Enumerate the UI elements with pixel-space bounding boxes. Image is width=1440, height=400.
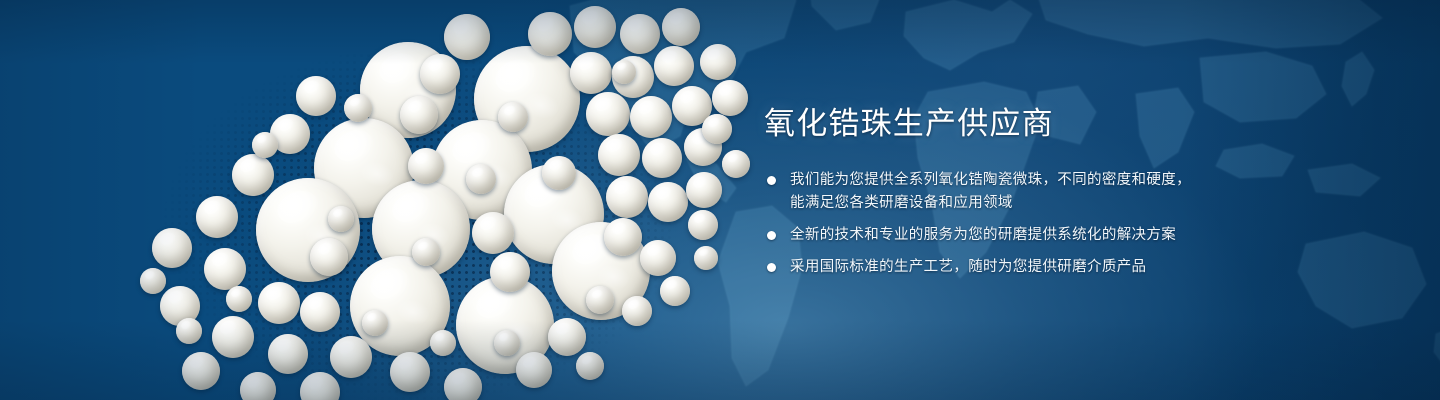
feature-list: 我们能为您提供全系列氧化锆陶瓷微珠，不同的密度和硬度， 能满足您各类研磨设备和应…: [764, 169, 1224, 279]
list-item-text: 我们能为您提供全系列氧化锆陶瓷微珠，不同的密度和硬度， 能满足您各类研磨设备和应…: [790, 169, 1224, 215]
list-item-text: 采用国际标准的生产工艺，随时为您提供研磨介质产品: [790, 256, 1224, 279]
page-title: 氧化锆珠生产供应商: [764, 104, 1224, 144]
banner-copy: 氧化锆珠生产供应商 我们能为您提供全系列氧化锆陶瓷微珠，不同的密度和硬度， 能满…: [764, 104, 1224, 279]
list-item: 采用国际标准的生产工艺，随时为您提供研磨介质产品: [764, 256, 1224, 279]
list-item: 全新的技术和专业的服务为您的研磨提供系统化的解决方案: [764, 224, 1224, 247]
dot-bullet-icon: [767, 176, 776, 185]
hero-banner: 氧化锆珠生产供应商 我们能为您提供全系列氧化锆陶瓷微珠，不同的密度和硬度， 能满…: [0, 0, 1440, 400]
list-item-line1: 全新的技术和专业的服务为您的研磨提供系统化的解决方案: [790, 227, 1176, 243]
dot-bullet-icon: [767, 231, 776, 240]
list-item-line1: 采用国际标准的生产工艺，随时为您提供研磨介质产品: [790, 259, 1146, 275]
list-item-line2: 能满足您各类研磨设备和应用领域: [790, 192, 1224, 215]
list-item-line1: 我们能为您提供全系列氧化锆陶瓷微珠，不同的密度和硬度，: [790, 172, 1191, 188]
list-item: 我们能为您提供全系列氧化锆陶瓷微珠，不同的密度和硬度， 能满足您各类研磨设备和应…: [764, 169, 1224, 215]
dot-bullet-icon: [767, 263, 776, 272]
list-item-text: 全新的技术和专业的服务为您的研磨提供系统化的解决方案: [790, 224, 1224, 247]
